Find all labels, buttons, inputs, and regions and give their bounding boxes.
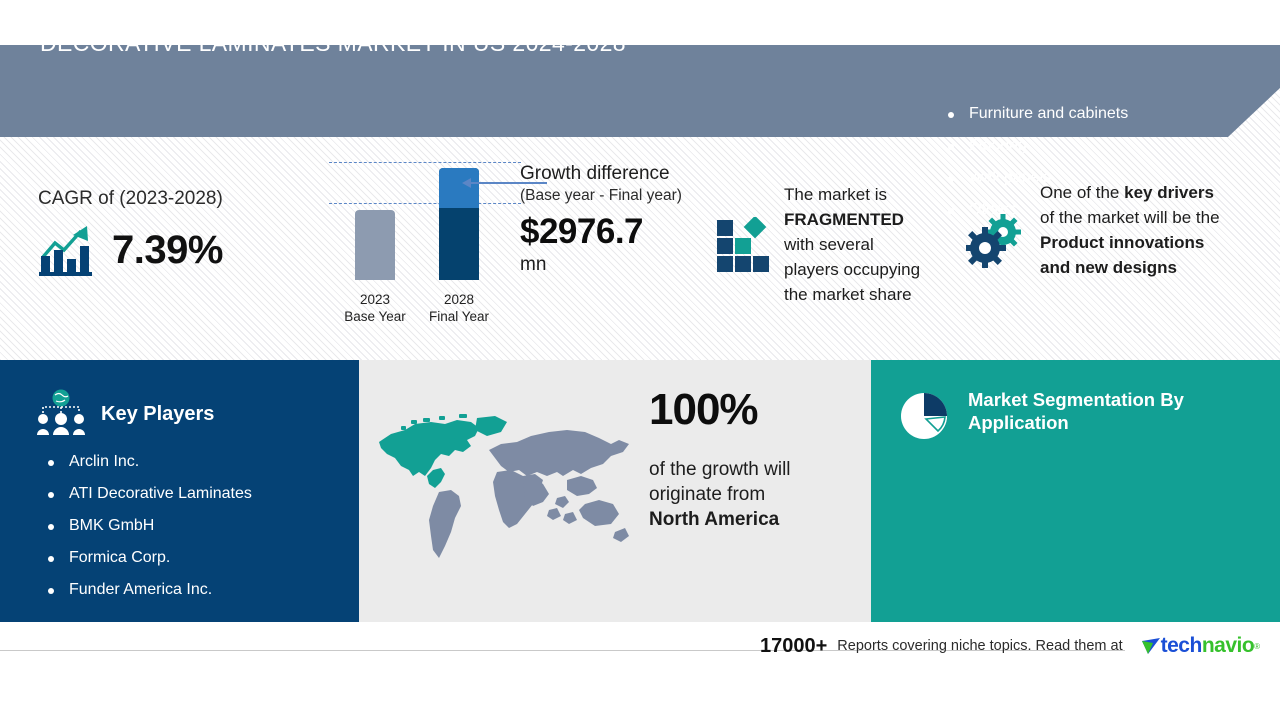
logo-trademark: ®	[1254, 642, 1260, 651]
technavio-arrow-icon	[1141, 637, 1161, 655]
logo-text-navio: navio	[1202, 634, 1254, 658]
list-item: Wall panels	[948, 169, 1128, 187]
cagr-value: 7.39%	[112, 228, 223, 273]
drivers-line1-bold: key drivers	[1124, 183, 1214, 202]
frag-bold: FRAGMENTED	[784, 210, 904, 229]
region-highlight: North America	[649, 509, 779, 530]
cagr-block: CAGR of (2023-2028) 7.39%	[38, 188, 223, 277]
list-item: BMK GmbH	[48, 517, 252, 535]
segmentation-list: Furniture and cabinets Flooring Wall pan…	[948, 105, 1128, 233]
chart-gridline-top	[329, 162, 521, 163]
key-players-title: Key Players	[101, 403, 214, 426]
market-fragmentation-text: The market is FRAGMENTED with several pl…	[784, 182, 920, 307]
drivers-bold-line2: and new designs	[1040, 258, 1177, 277]
technavio-logo[interactable]: technavio®	[1141, 634, 1260, 658]
bar-label-final-sub: Final Year	[414, 308, 504, 325]
frag-line4: the market share	[784, 285, 912, 304]
region-growth-panel: 100% of the growth will originate from N…	[359, 360, 871, 622]
footer: 17000+ Reports covering niche topics. Re…	[760, 634, 1260, 658]
key-players-panel: Key Players Arclin Inc. ATI Decorative L…	[0, 360, 359, 622]
world-map	[371, 410, 641, 560]
region-line1: of the growth will	[649, 459, 791, 480]
drivers-bold-line1: Product innovations	[1040, 233, 1204, 252]
footer-text: Reports covering niche topics. Read them…	[837, 638, 1122, 654]
market-segmentation-panel: Market Segmentation By Application	[871, 360, 1280, 622]
list-item: Others	[948, 201, 1128, 219]
growth-bar-chart: 2023 Base Year 2028 Final Year	[329, 155, 529, 325]
bar-label-final-year: 2028	[414, 291, 504, 308]
footer-report-count: 17000+	[760, 635, 827, 658]
globe-people-network-icon	[35, 389, 87, 439]
map-region-south-america	[429, 490, 461, 558]
list-item: Flooring	[948, 137, 1128, 155]
region-growth-block: 100% of the growth will originate from N…	[649, 385, 791, 532]
region-growth-percent: 100%	[649, 385, 791, 435]
list-item: Arclin Inc.	[48, 453, 252, 471]
market-fragmentation-block: The market is FRAGMENTED with several pl…	[716, 182, 920, 307]
region-line2: originate from	[649, 484, 765, 505]
bar-label-base: 2023 Base Year	[330, 291, 420, 325]
page-title: DECORATIVE LAMINATES MARKET IN US 2024-2…	[40, 30, 626, 57]
frag-line2: with several	[784, 235, 874, 254]
segmentation-title: Market Segmentation By Application	[968, 388, 1218, 434]
region-growth-text: of the growth will originate from North …	[649, 457, 791, 532]
bar-base-year	[355, 210, 395, 280]
key-players-list: Arclin Inc. ATI Decorative Laminates BMK…	[48, 453, 252, 613]
growth-difference-title: Growth difference	[520, 162, 682, 186]
squares-diamond-icon	[716, 217, 772, 273]
list-item: Formica Corp.	[48, 549, 252, 567]
list-item: Funder America Inc.	[48, 581, 252, 599]
map-region-north-america	[379, 414, 507, 488]
growth-difference-unit: mn	[520, 254, 682, 276]
list-item: ATI Decorative Laminates	[48, 485, 252, 503]
growth-difference-value: $2976.7	[520, 212, 682, 252]
bar-label-base-year: 2023	[330, 291, 420, 308]
bar-chart-growth-icon	[38, 223, 96, 277]
map-region-eurasia-africa	[489, 430, 629, 542]
list-item: Furniture and cabinets	[948, 105, 1128, 123]
frag-line1: The market is	[784, 185, 887, 204]
cagr-label: CAGR of (2023-2028)	[38, 188, 223, 210]
bar-label-base-sub: Base Year	[330, 308, 420, 325]
segmentation-header: Market Segmentation By Application	[899, 388, 1218, 443]
frag-line3: players occupying	[784, 260, 920, 279]
growth-difference-subtitle: (Base year - Final year)	[520, 186, 682, 206]
chart-gridline-mid	[329, 203, 521, 204]
infographic-page: DECORATIVE LAMINATES MARKET IN US 2024-2…	[0, 0, 1280, 720]
key-players-header: Key Players	[35, 389, 214, 439]
pie-chart-icon	[899, 391, 951, 443]
growth-difference-block: Growth difference (Base year - Final yea…	[520, 162, 682, 276]
bar-label-final: 2028 Final Year	[414, 291, 504, 325]
logo-text-tech: tech	[1161, 634, 1202, 658]
